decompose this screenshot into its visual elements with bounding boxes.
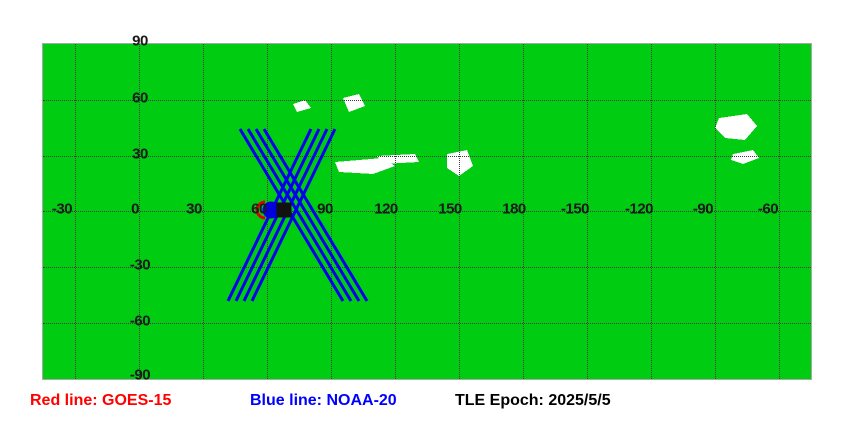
lon-tick-label: -30 — [52, 201, 72, 218]
lon-tick-label: -90 — [693, 201, 713, 218]
lat-tick-label: -60 — [130, 313, 150, 330]
lon-tick-label: 0 — [131, 201, 139, 218]
legend-noaa20: Blue line: NOAA-20 — [250, 392, 397, 410]
lat-tick-label: 60 — [132, 90, 148, 107]
satellite-ground-track-map: -30 0 30 60 90 120 150 180 -150 -120 -90… — [0, 0, 850, 425]
lon-tick-label: 120 — [374, 201, 398, 218]
lon-tick-label: 150 — [438, 201, 462, 218]
legend: Red line: GOES-15 Blue line: NOAA-20 TLE… — [0, 392, 850, 420]
lon-tick-label: -120 — [625, 201, 653, 218]
lat-tick-label: 30 — [132, 146, 148, 163]
lon-tick-label: 180 — [502, 201, 526, 218]
lat-tick-label: 90 — [132, 33, 148, 50]
legend-tle-epoch: TLE Epoch: 2025/5/5 — [455, 392, 611, 410]
observer-station-marker — [277, 203, 292, 218]
lon-tick-label: 30 — [186, 201, 202, 218]
lon-tick-label: -150 — [561, 201, 589, 218]
lon-tick-label: -60 — [758, 201, 778, 218]
lat-tick-label: -90 — [130, 367, 150, 384]
lon-tick-label: 90 — [317, 201, 333, 218]
lat-tick-label: -30 — [130, 257, 150, 274]
legend-goes15: Red line: GOES-15 — [30, 392, 171, 410]
lon-tick-label: 60 — [251, 201, 267, 218]
